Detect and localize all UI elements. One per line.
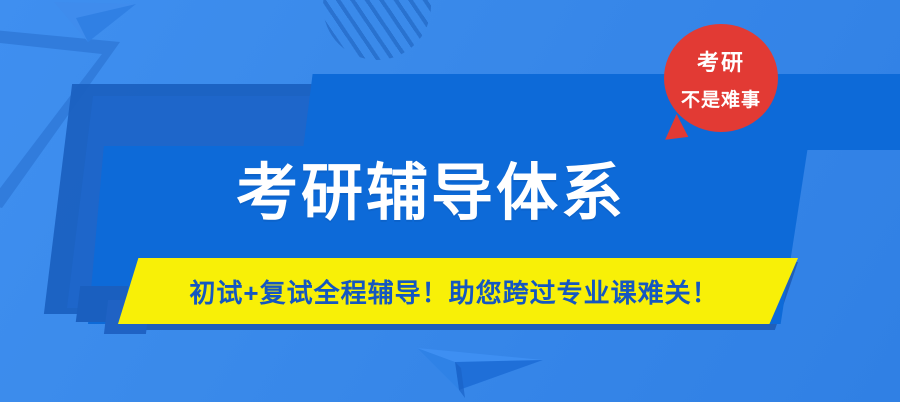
paper-plane-icon: [415, 338, 545, 400]
promo-banner: 考研辅导体系 初试+复试全程辅导！助您跨过专业课难关！ 考研 不是难事: [0, 0, 900, 402]
subtitle-text: 初试+复试全程辅导！助您跨过专业课难关！: [189, 273, 718, 310]
badge-line-2: 不是难事: [681, 85, 761, 112]
subtitle-band: 初试+复试全程辅导！助您跨过专业课难关！: [118, 258, 798, 324]
arrow-head-icon: [52, 0, 142, 46]
striped-circle-icon: [323, 0, 431, 60]
badge-text-group: 考研 不是难事: [664, 24, 778, 132]
panel-upper-step: [303, 74, 900, 150]
status-badge: 考研 不是难事: [664, 24, 778, 132]
page-title: 考研辅导体系: [236, 155, 696, 233]
badge-line-1: 考研: [697, 45, 745, 77]
